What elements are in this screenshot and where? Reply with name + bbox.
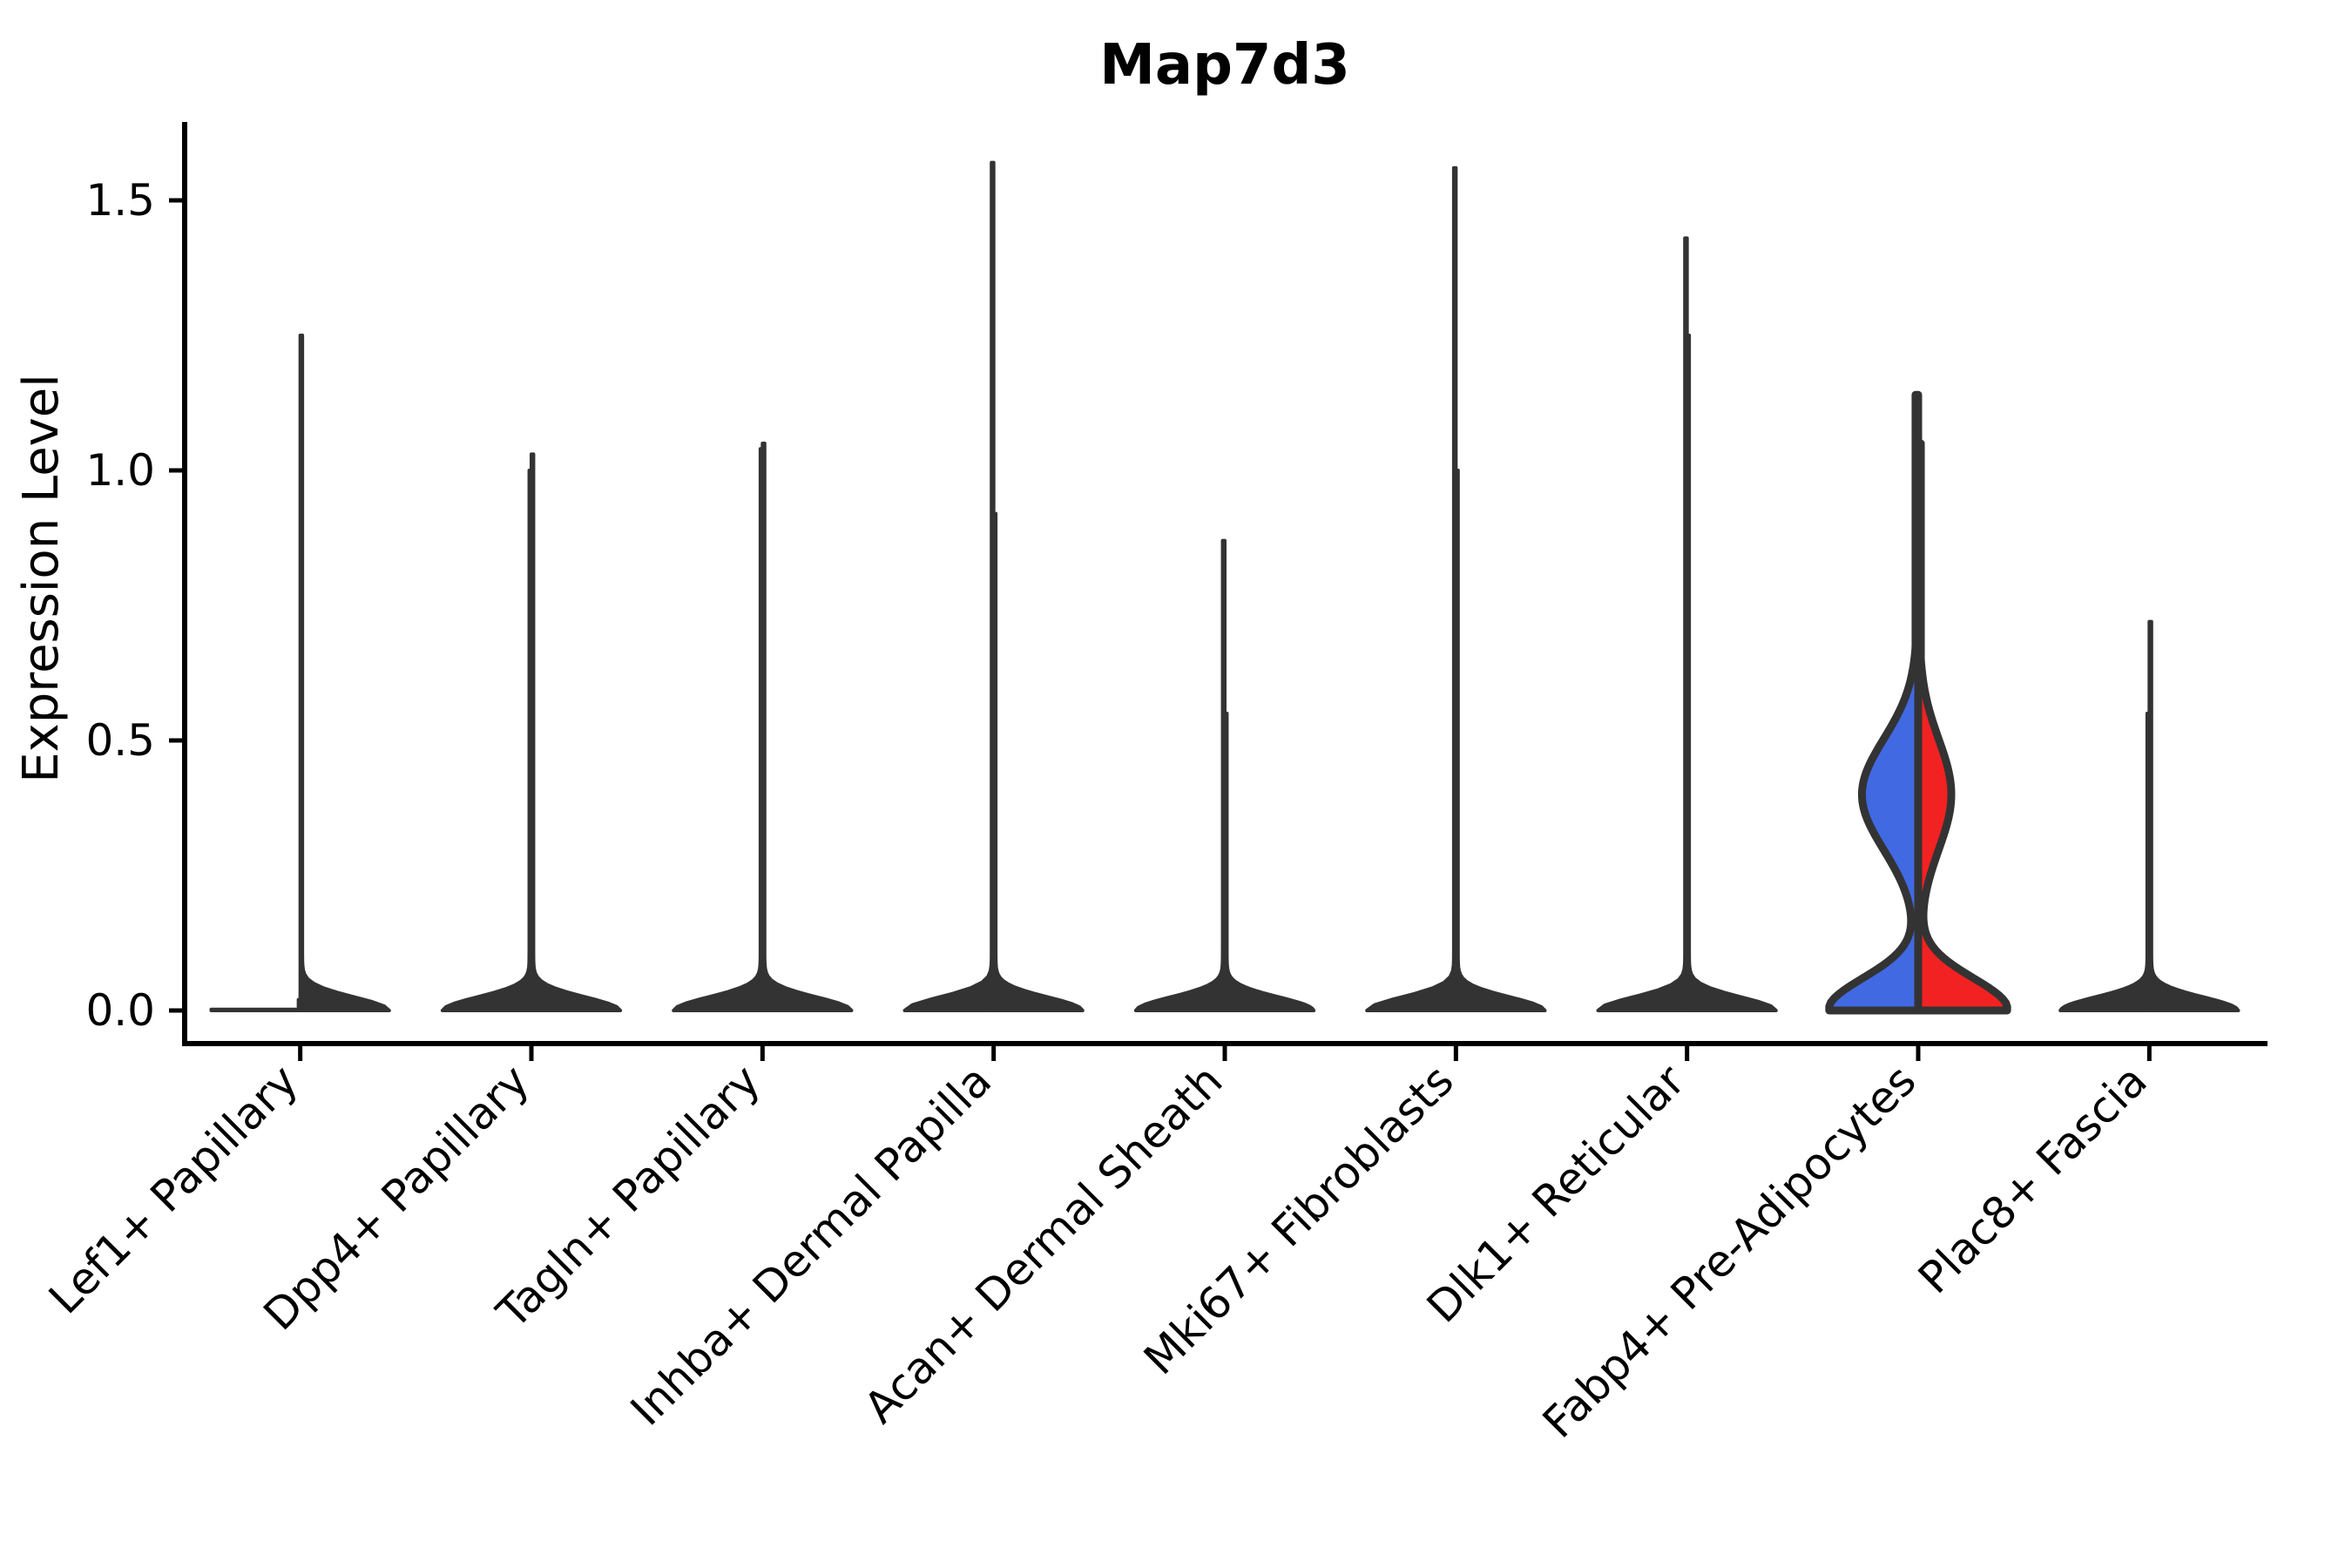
violin-7-left [1829,395,1918,1010]
violin-5-left [1367,168,1456,1010]
violin-2-right [762,443,851,1010]
violin-plot-figure: 0.00.51.01.5Expression LevelMap7d3Lef1+ … [0,0,2352,1568]
violin-2-left [673,449,762,1010]
violin-7-right [1918,443,2007,1010]
violin-0-right [301,335,389,1010]
violin-8-left [2060,713,2149,1010]
violin-6-left [1598,238,1687,1010]
violin-4-left [1136,541,1225,1010]
y-axis-title: Expression Level [13,374,70,783]
y-tick-label-2: 1.0 [85,445,155,496]
violin-3-left [905,163,994,1010]
y-tick-label-0: 0.0 [85,985,155,1036]
violin-4-right [1225,713,1314,1010]
x-tick-label-0: Lef1+ Papillary [39,1055,308,1323]
x-tick-label-7: Fabp4+ Pre-Adipocytes [1533,1055,1926,1448]
y-tick-label-3: 1.5 [85,175,155,226]
violin-6-right [1687,335,1776,1010]
chart-title: Map7d3 [1099,33,1350,98]
violin-5-right [1456,470,1544,1010]
violin-1-left [443,470,531,1010]
plot-canvas: 0.00.51.01.5Expression LevelMap7d3Lef1+ … [0,0,2352,1568]
violin-0-left [212,1000,301,1010]
y-tick-label-1: 0.5 [85,715,155,766]
violin-1-right [531,454,620,1010]
violin-8-right [2149,622,2238,1010]
violin-3-right [994,514,1083,1010]
violins-group [212,163,2239,1010]
x-tick-label-8: Plac8+ Fascia [1909,1055,2157,1303]
